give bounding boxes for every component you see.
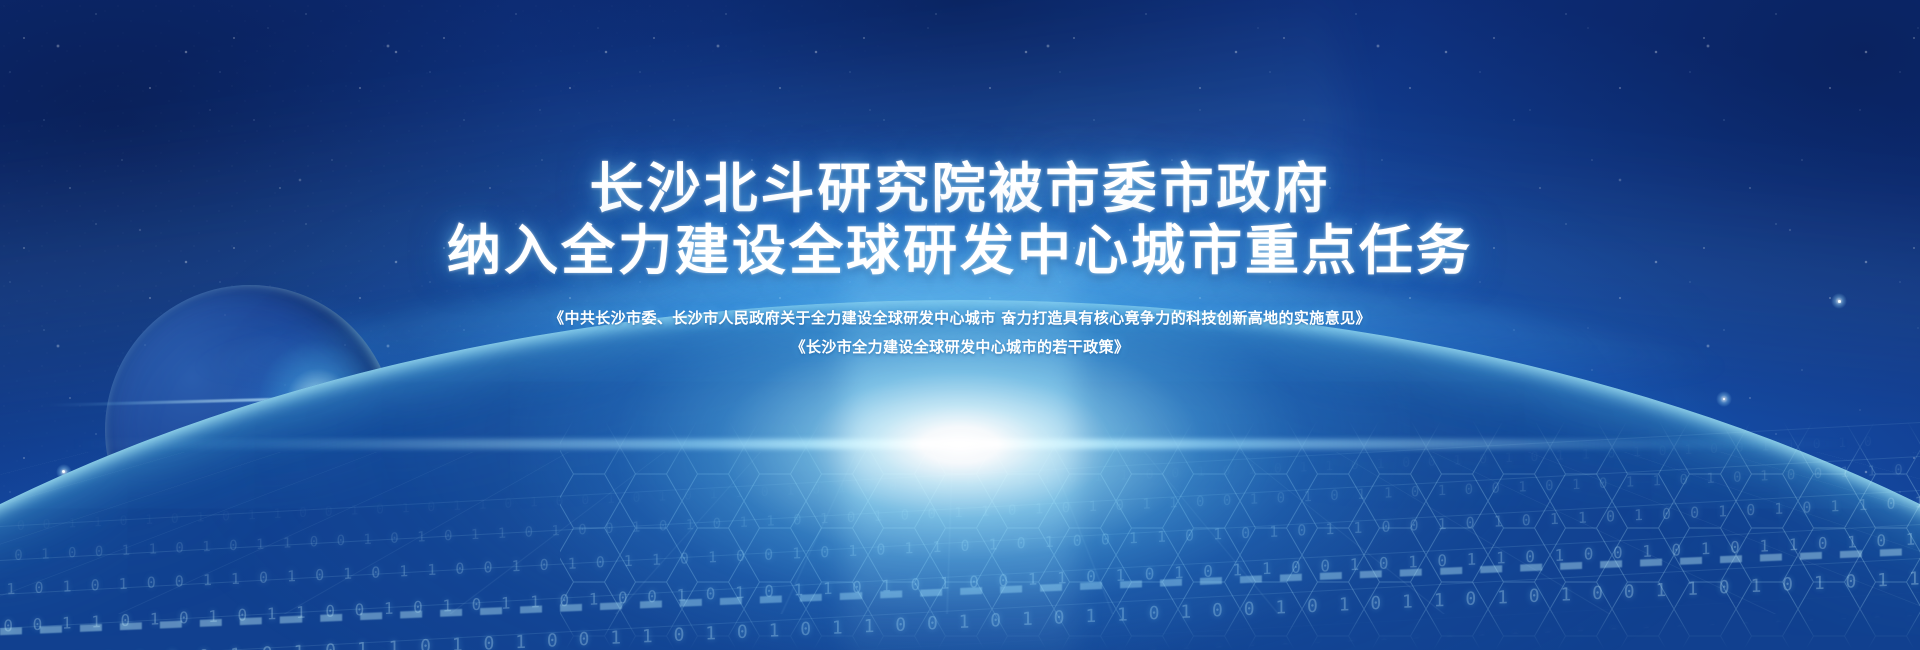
banner-title-line-1: 长沙北斗研究院被市委市政府: [590, 158, 1331, 220]
banner-title-line-2: 纳入全力建设全球研发中心城市重点任务: [447, 220, 1473, 282]
hero-banner: 1 0 1 0 0 1 1 0 1 0 1 0 1 1 0 0 1 0 1 0 …: [0, 0, 1920, 650]
banner-subtitle-line-1: 《中共长沙市委、长沙市人民政府关于全力建设全球研发中心城市 奋力打造具有核心竟争…: [549, 304, 1371, 333]
banner-subtitle-group: 《中共长沙市委、长沙市人民政府关于全力建设全球研发中心城市 奋力打造具有核心竟争…: [549, 304, 1371, 363]
banner-text-block: 长沙北斗研究院被市委市政府 纳入全力建设全球研发中心城市重点任务 《中共长沙市委…: [0, 0, 1920, 650]
banner-subtitle-line-2: 《长沙市全力建设全球研发中心城市的若干政策》: [549, 333, 1371, 362]
